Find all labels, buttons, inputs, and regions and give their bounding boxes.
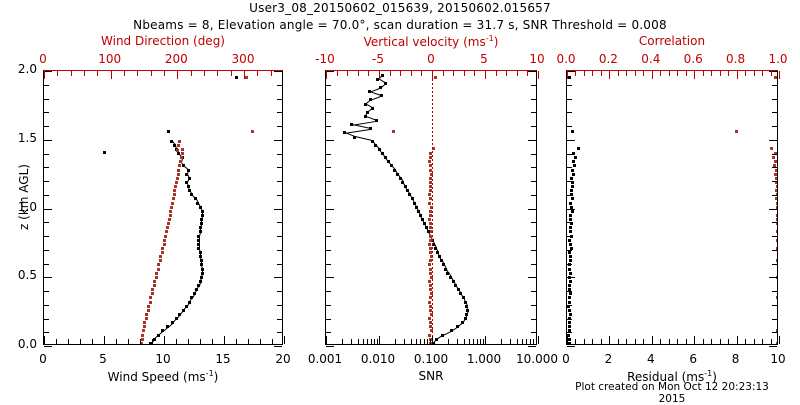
y-axis-minor-tick (772, 181, 777, 182)
axis-tick (248, 339, 249, 344)
axis-tick-label: -10 (315, 52, 335, 66)
data-point (574, 156, 577, 159)
data-point (251, 130, 254, 133)
axis-tick (204, 71, 205, 76)
axis-tick (188, 339, 189, 344)
data-point (571, 169, 574, 172)
axis-tick (363, 339, 364, 344)
axis-tick (669, 339, 670, 344)
y-axis-tick (567, 346, 575, 347)
data-point (381, 152, 384, 155)
plot-title-parameters: Nbeams = 8, Elevation angle = 70.0°, sca… (0, 18, 800, 32)
axis-tick (358, 71, 359, 76)
y-axis-minor-tick (531, 319, 536, 320)
data-point (390, 164, 393, 167)
y-axis-minor-tick (326, 181, 331, 182)
data-point (200, 222, 203, 225)
axis-tick-label: 0.010 (361, 352, 395, 366)
data-point (199, 230, 202, 233)
axis-tick (703, 339, 704, 344)
data-point (568, 325, 571, 328)
y-axis-minor-tick (326, 167, 331, 168)
y-axis-minor-tick (277, 195, 282, 196)
y-axis-minor-tick (567, 291, 572, 292)
axis-tick (517, 339, 518, 344)
data-point (188, 177, 191, 180)
axis-tick (473, 339, 474, 344)
data-point (171, 321, 174, 324)
y-axis-minor-tick (44, 319, 49, 320)
axis-tick (527, 71, 528, 76)
axis-tick (669, 71, 670, 76)
data-point (201, 272, 204, 275)
y-axis-minor-tick (44, 99, 49, 100)
axis-tick (584, 71, 585, 76)
data-point (371, 107, 374, 110)
data-point (197, 243, 200, 246)
data-point (200, 259, 203, 262)
data-point (199, 251, 202, 254)
axis-tick (337, 71, 338, 76)
axis-tick (626, 71, 627, 76)
data-point (195, 288, 198, 291)
y-axis-tick (769, 346, 777, 347)
axis-tick (124, 71, 125, 76)
axis-tick (677, 339, 678, 344)
y-axis-minor-tick (44, 236, 49, 237)
axis-tick-label: 0.5 (18, 268, 37, 282)
data-point (169, 214, 172, 217)
data-point (164, 235, 167, 238)
data-point (421, 218, 424, 221)
data-point (735, 130, 738, 133)
y-axis-minor-tick (44, 264, 49, 265)
axis-tick-label: 4 (647, 352, 655, 366)
axis-tick-label: 8 (732, 352, 740, 366)
data-point (151, 288, 154, 291)
axis-tick (711, 71, 712, 76)
data-point (446, 272, 449, 275)
y-axis-minor-tick (277, 209, 282, 210)
y-axis-minor-tick (326, 126, 331, 127)
axis-tick (212, 339, 213, 344)
wind-plot-area[interactable] (44, 71, 282, 344)
data-point (185, 305, 188, 308)
axis-tick (771, 339, 772, 344)
y-axis-minor-tick (326, 319, 331, 320)
y-axis-minor-tick (531, 209, 536, 210)
axis-tick-label: 2 (605, 352, 613, 366)
axis-tick (71, 71, 72, 76)
axis-tick (379, 71, 380, 79)
axis-tick (164, 336, 165, 344)
data-point (466, 309, 469, 312)
axis-tick (720, 71, 721, 76)
data-point (462, 296, 465, 299)
y-axis-minor-tick (326, 85, 331, 86)
data-point (571, 197, 574, 200)
data-point (419, 214, 422, 217)
y-axis-minor-tick (567, 167, 572, 168)
data-point (569, 292, 572, 295)
data-point (444, 268, 447, 271)
axis-tick (643, 71, 644, 76)
axis-tick (44, 336, 45, 344)
axis-tick (368, 71, 369, 76)
data-point (776, 214, 777, 217)
data-point (169, 210, 172, 213)
data-point (196, 202, 199, 205)
axis-tick (592, 71, 593, 76)
data-point (461, 321, 464, 324)
data-point (159, 255, 162, 258)
y-axis-minor-tick (567, 332, 572, 333)
axis-tick (97, 71, 98, 76)
data-point (201, 268, 204, 271)
axis-tick (737, 336, 738, 344)
data-point (201, 214, 204, 217)
axis-tick (483, 339, 484, 344)
data-point (366, 111, 369, 114)
data-point (393, 169, 396, 172)
data-point (423, 222, 426, 225)
data-point (378, 148, 381, 151)
data-point (200, 218, 203, 221)
axis-tick (618, 71, 619, 76)
axis-tick (694, 336, 695, 344)
data-point (428, 218, 431, 221)
axis-tick (618, 339, 619, 344)
data-point (176, 149, 179, 152)
axis-tick (56, 339, 57, 344)
axis-tick (711, 339, 712, 344)
axis-tick (643, 339, 644, 344)
axis-tick-label: 10 (529, 52, 544, 66)
data-point (772, 156, 775, 159)
axis-tick (177, 71, 178, 79)
axis-tick (443, 71, 444, 76)
axis-tick (217, 71, 218, 76)
axis-tick (480, 339, 481, 344)
y-axis-minor-tick (326, 291, 331, 292)
y-axis-minor-tick (44, 167, 49, 168)
data-point (438, 255, 441, 258)
y-axis-minor-tick (326, 195, 331, 196)
data-point (457, 288, 460, 291)
axis-tick (609, 71, 610, 79)
axis-tick (371, 339, 372, 344)
data-point (435, 338, 438, 341)
data-point (392, 130, 395, 133)
y-axis-minor-tick (277, 112, 282, 113)
y-axis-minor-tick (772, 126, 777, 127)
y-axis-tick (44, 71, 52, 72)
data-point (425, 226, 428, 229)
axis-tick (635, 339, 636, 344)
axis-tick (501, 339, 502, 344)
data-point (413, 202, 416, 205)
axis-tick (686, 71, 687, 76)
data-point (175, 317, 178, 320)
data-point (396, 173, 399, 176)
axis-tick (342, 339, 343, 344)
data-point (572, 160, 575, 163)
data-point (177, 152, 180, 155)
y-axis-minor-tick (277, 264, 282, 265)
data-point (175, 181, 178, 184)
axis-tick (538, 71, 539, 79)
axis-tick (92, 339, 93, 344)
axis-tick-label: 0 (39, 52, 47, 66)
data-point (776, 202, 777, 205)
data-point (173, 189, 176, 192)
axis-title: Vertical velocity (ms-1) (364, 34, 499, 49)
data-point (199, 255, 202, 258)
data-point (199, 206, 202, 209)
data-point (182, 164, 185, 167)
axis-tick-label: 10 (155, 352, 170, 366)
data-point (776, 239, 777, 242)
axis-tick-label: 0 (562, 352, 570, 366)
y-axis-tick (528, 140, 536, 141)
panel-wind-profile (43, 70, 283, 345)
axis-title: Correlation (639, 34, 705, 48)
y-axis-minor-tick (567, 154, 572, 155)
axis-tick (236, 339, 237, 344)
data-point (384, 156, 387, 159)
data-point (167, 130, 170, 133)
snr-plot-area[interactable] (326, 71, 536, 344)
data-point (172, 197, 175, 200)
axis-tick (485, 336, 486, 344)
y-axis-minor-tick (277, 154, 282, 155)
axis-tick (448, 339, 449, 344)
axis-tick (152, 339, 153, 344)
y-axis-minor-tick (326, 250, 331, 251)
data-point (465, 305, 468, 308)
y-axis-minor-tick (277, 126, 282, 127)
axis-tick (720, 339, 721, 344)
y-axis-minor-tick (44, 126, 49, 127)
data-point (775, 197, 777, 200)
y-axis-minor-tick (567, 264, 572, 265)
axis-tick (257, 71, 258, 76)
axis-tick-label: 0.001 (308, 352, 342, 366)
panel-residual-profile (566, 70, 778, 345)
data-point (572, 152, 575, 155)
axis-tick (430, 339, 431, 344)
axis-tick (260, 339, 261, 344)
axis-tick-label: 0 (39, 352, 47, 366)
y-axis-minor-tick (567, 126, 572, 127)
data-point (568, 76, 571, 79)
data-point (197, 239, 200, 242)
axis-tick (367, 339, 368, 344)
data-point (161, 329, 164, 332)
data-point (235, 76, 238, 79)
axis-tick-label: 0.0 (556, 52, 575, 66)
data-point (364, 115, 367, 118)
data-point (145, 313, 148, 316)
plot-creation-footer: Plot created on Mon Oct 12 20:23:13 2015 (566, 381, 778, 405)
y-axis-tick (274, 277, 282, 278)
data-point (166, 226, 169, 229)
y-axis-minor-tick (772, 250, 777, 251)
y-axis-minor-tick (277, 319, 282, 320)
y-axis-minor-tick (772, 209, 777, 210)
y-axis-minor-tick (531, 332, 536, 333)
data-point (401, 181, 404, 184)
y-axis-minor-tick (531, 305, 536, 306)
y-axis-minor-tick (277, 250, 282, 251)
axis-tick (737, 71, 738, 79)
axis-tick (626, 339, 627, 344)
axis-tick (567, 336, 568, 344)
data-point (157, 263, 160, 266)
data-line-segment (344, 129, 371, 134)
data-point (399, 177, 402, 180)
data-point (569, 214, 572, 217)
data-point (776, 296, 777, 299)
y-axis-minor-tick (772, 99, 777, 100)
y-axis-minor-tick (531, 291, 536, 292)
axis-tick (584, 339, 585, 344)
y-axis-minor-tick (567, 209, 572, 210)
data-point (141, 334, 144, 337)
data-point (456, 325, 459, 328)
axis-tick (694, 71, 695, 79)
data-point (188, 301, 191, 304)
data-point (163, 239, 166, 242)
axis-tick (244, 71, 245, 79)
data-point (201, 210, 204, 213)
data-point (173, 144, 176, 147)
axis-tick (424, 339, 425, 344)
data-point (436, 251, 439, 254)
axis-tick (390, 71, 391, 76)
axis-tick (745, 339, 746, 344)
data-point (371, 140, 374, 143)
data-point (197, 247, 200, 250)
axis-tick (427, 339, 428, 344)
axis-title: Residual (ms-1) (627, 369, 717, 384)
data-point (190, 296, 193, 299)
y-axis-minor-tick (326, 332, 331, 333)
data-point (569, 280, 572, 283)
y-axis-minor-tick (531, 250, 536, 251)
axis-tick (517, 71, 518, 76)
y-axis-minor-tick (277, 99, 282, 100)
data-point (182, 309, 185, 312)
y-axis-minor-tick (277, 291, 282, 292)
data-point (171, 202, 174, 205)
residual-plot-area[interactable] (567, 71, 777, 344)
data-point (774, 173, 777, 176)
data-point (170, 206, 173, 209)
y-axis-minor-tick (772, 222, 777, 223)
y-axis-minor-tick (531, 222, 536, 223)
data-point (103, 151, 106, 154)
axis-tick (703, 71, 704, 76)
axis-tick (140, 339, 141, 344)
axis-tick-label: 300 (232, 52, 255, 66)
data-point (428, 301, 431, 304)
data-point (776, 342, 777, 344)
y-axis-minor-tick (531, 112, 536, 113)
axis-tick (191, 71, 192, 76)
data-point (434, 76, 437, 79)
axis-tick (84, 71, 85, 76)
data-point (380, 94, 383, 97)
data-point (369, 98, 372, 101)
axis-tick (358, 339, 359, 344)
y-axis-minor-tick (567, 250, 572, 251)
y-axis-minor-tick (772, 85, 777, 86)
axis-tick-label: 0.8 (726, 52, 745, 66)
data-point (161, 251, 164, 254)
axis-tick (404, 339, 405, 344)
y-axis-minor-tick (531, 264, 536, 265)
data-point (434, 247, 437, 250)
axis-tick (57, 71, 58, 76)
axis-tick (609, 336, 610, 344)
axis-tick (464, 339, 465, 344)
data-point (441, 334, 444, 337)
axis-tick (779, 336, 780, 344)
axis-tick-label: 5 (99, 352, 107, 366)
axis-tick-label: 200 (165, 52, 188, 66)
y-axis-minor-tick (531, 99, 536, 100)
y-axis-minor-tick (567, 181, 572, 182)
data-point (569, 313, 572, 316)
y-axis-tick (769, 140, 777, 141)
data-line-segment (351, 121, 376, 126)
y-axis-minor-tick (772, 319, 777, 320)
y-axis-tick (326, 277, 334, 278)
axis-tick (496, 71, 497, 76)
axis-tick (377, 339, 378, 344)
axis-tick (379, 336, 380, 344)
data-point (153, 284, 156, 287)
axis-tick (111, 71, 112, 79)
axis-tick (453, 71, 454, 76)
y-axis-minor-tick (44, 181, 49, 182)
axis-tick (271, 71, 272, 76)
data-point (428, 280, 431, 283)
axis-tick-label: 1.5 (18, 131, 37, 145)
data-point (775, 177, 777, 180)
y-axis-minor-tick (567, 195, 572, 196)
axis-tick (652, 336, 653, 344)
y-axis-minor-tick (772, 236, 777, 237)
data-point (408, 193, 411, 196)
y-axis-minor-tick (772, 264, 777, 265)
data-point (568, 342, 571, 344)
data-point (568, 284, 571, 287)
data-point (454, 284, 457, 287)
axis-tick (686, 339, 687, 344)
y-axis-minor-tick (44, 209, 49, 210)
axis-tick (421, 71, 422, 76)
axis-tick (416, 339, 417, 344)
axis-tick (771, 71, 772, 76)
data-point (190, 193, 193, 196)
y-axis-minor-tick (326, 154, 331, 155)
y-axis-minor-tick (44, 154, 49, 155)
data-point (174, 185, 177, 188)
data-point (178, 313, 181, 316)
axis-tick-label: 10.000 (516, 352, 558, 366)
